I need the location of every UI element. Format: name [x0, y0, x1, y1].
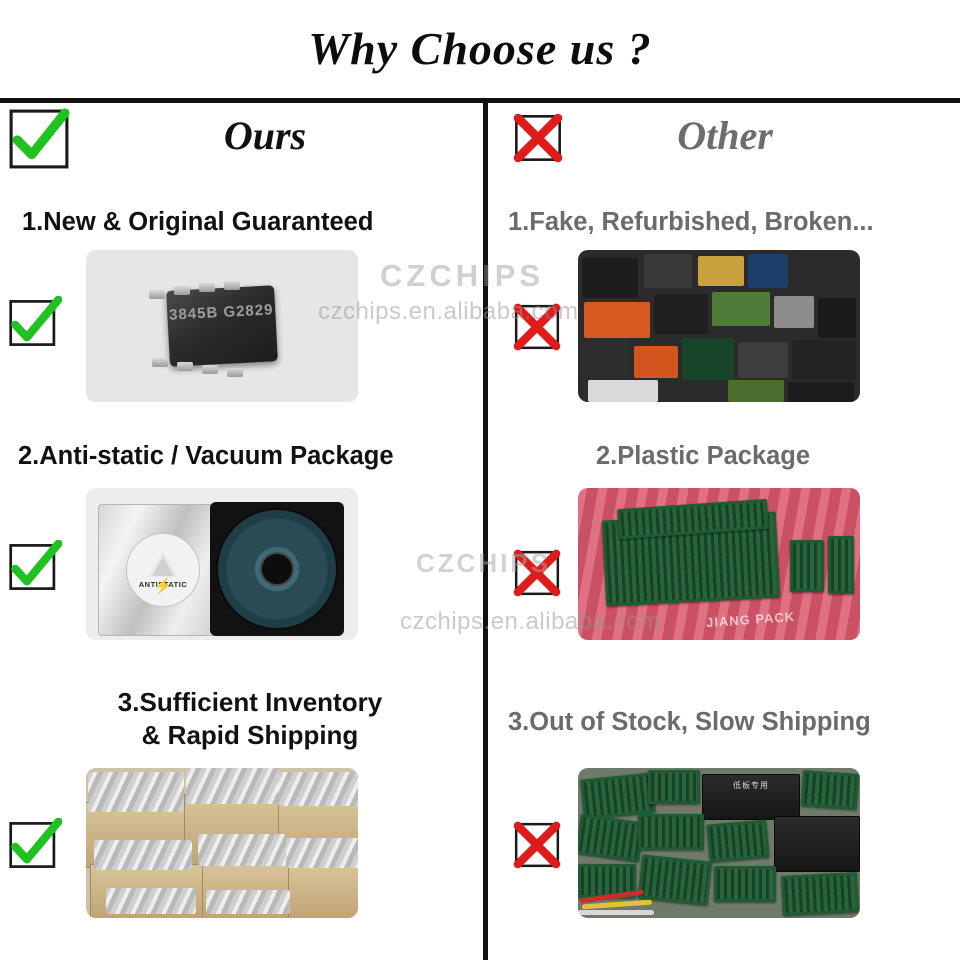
chip-marking-text: 3845B G2829: [167, 301, 276, 324]
why-choose-us-comparison-graphic: Why Choose us ? Ours Other 1.New & Origi…: [0, 0, 960, 960]
ours-caption-2: 2.Anti-static / Vacuum Package: [18, 440, 478, 473]
page-title: Why Choose us ?: [0, 22, 960, 75]
header-check-mark-icon: [8, 108, 70, 170]
module-label: 低板专用: [703, 780, 799, 791]
other-caption-2: 2.Plastic Package: [596, 440, 956, 473]
other-cross-mark-icon-3: [512, 820, 562, 870]
column-header-other: Other: [560, 112, 890, 159]
ours-photo-1-chip: 3845B G2829: [86, 250, 358, 402]
other-caption-1: 1.Fake, Refurbished, Broken...: [508, 206, 958, 239]
ours-caption-1: 1.New & Original Guaranteed: [22, 206, 472, 239]
header-cross-mark-icon: [512, 112, 564, 164]
ours-check-mark-icon-2: [8, 540, 62, 594]
watermark-brand-top: CZCHIPS: [380, 258, 544, 294]
component-reel: [210, 502, 344, 636]
other-cross-mark-icon-1: [512, 302, 562, 352]
other-photo-3-pcb-waste: 低板专用: [578, 768, 860, 918]
other-cross-mark-icon-2: [512, 548, 562, 598]
ours-photo-3-warehouse-boxes: [86, 768, 358, 918]
horizontal-divider: [0, 98, 960, 103]
ours-check-mark-icon-3: [8, 818, 62, 872]
plastic-bag-print: JIANG PACK: [706, 609, 796, 630]
ours-check-mark-icon-1: [8, 296, 62, 350]
other-caption-3: 3.Out of Stock, Slow Shipping: [508, 706, 958, 739]
antistatic-bag: ⚡ ANTISTATIC: [98, 504, 228, 636]
other-photo-1-scrap-chips: [578, 250, 860, 402]
vertical-divider: [483, 98, 488, 960]
ours-caption-3: 3.Sufficient Inventory & Rapid Shipping: [60, 686, 440, 753]
column-header-ours: Ours: [100, 112, 430, 159]
ours-photo-2-antistatic-package: ⚡ ANTISTATIC: [86, 488, 358, 640]
other-photo-2-plastic-package: JIANG PACK: [578, 488, 860, 640]
